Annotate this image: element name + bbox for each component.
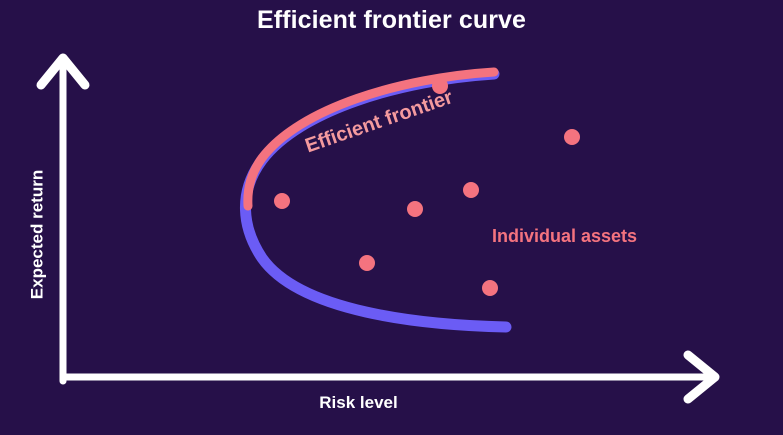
y-axis <box>41 58 85 381</box>
asset-marker <box>274 193 290 209</box>
asset-marker <box>407 201 423 217</box>
x-axis-label: Risk level <box>0 394 717 411</box>
asset-marker <box>482 280 498 296</box>
asset-marker <box>463 182 479 198</box>
y-axis-label: Expected return <box>29 135 46 335</box>
efficient-frontier-figure <box>0 0 783 435</box>
asset-marker <box>564 129 580 145</box>
chart-canvas: Efficient frontier curve Efficient front… <box>0 0 783 435</box>
chart-title: Efficient frontier curve <box>0 8 783 33</box>
efficient-frontier-curve <box>248 72 494 206</box>
asset-marker <box>359 255 375 271</box>
individual-assets-annotation: Individual assets <box>492 227 637 245</box>
